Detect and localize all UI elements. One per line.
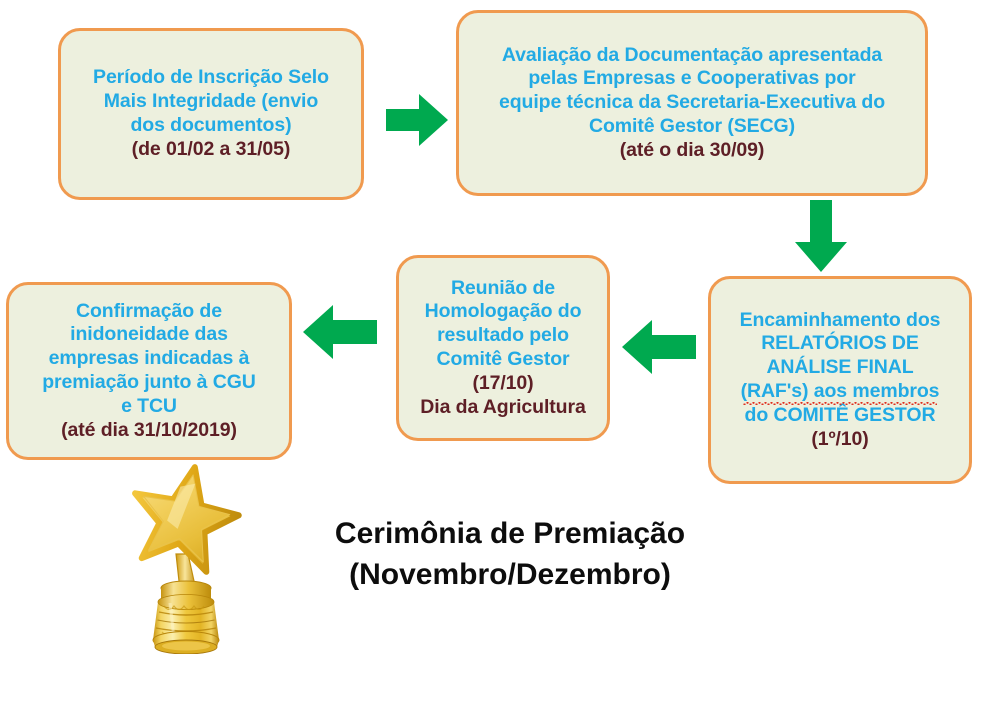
step-5-date: (até dia 31/10/2019) [17, 419, 281, 443]
trophy-star-icon [118, 462, 254, 654]
step-3-line-2: RELATÓRIOS DE [719, 332, 961, 356]
step-3-line-5: do COMITÊ GESTOR [719, 404, 961, 428]
step-4-line-2: Homologação do [407, 300, 599, 324]
flow-step-4[interactable]: Reunião de Homologação do resultado pelo… [396, 255, 610, 441]
ceremony-caption-line-1: Cerimônia de Premiação [320, 514, 700, 555]
step-5-line-3: empresas indicadas à [17, 347, 281, 371]
flow-step-2[interactable]: Avaliação da Documentação apresentada pe… [456, 10, 928, 196]
step-2-line-4: Comitê Gestor (SECG) [467, 115, 917, 139]
step-5-line-1: Confirmação de [17, 300, 281, 324]
arrow-down-icon [793, 200, 849, 272]
step-2-line-3: equipe técnica da Secretaria-Executiva d… [467, 91, 917, 115]
arrow-left-icon [622, 318, 696, 376]
step-4-note: Dia da Agricultura [407, 396, 599, 420]
step-3-date: (1º/10) [719, 428, 961, 452]
step-5-line-5: e TCU [17, 395, 281, 419]
step-5-line-2: inidoneidade das [17, 323, 281, 347]
arrow-left-icon [303, 303, 377, 361]
step-4-date: (17/10) [407, 372, 599, 396]
arrow-right-icon [386, 92, 448, 148]
step-4-line-4: Comitê Gestor [407, 348, 599, 372]
step-4-line-1: Reunião de [407, 277, 599, 301]
flowchart-canvas: Período de Inscrição Selo Mais Integrida… [0, 0, 997, 707]
flow-step-3[interactable]: Encaminhamento dos RELATÓRIOS DE ANÁLISE… [708, 276, 972, 484]
step-1-line-1: Período de Inscrição Selo [69, 66, 353, 90]
flow-step-5[interactable]: Confirmação de inidoneidade das empresas… [6, 282, 292, 460]
misspelled-raf-text: (RAF's) aos membros [741, 380, 940, 404]
step-2-line-2: pelas Empresas e Cooperativas por [467, 67, 917, 91]
ceremony-caption: Cerimônia de Premiação (Novembro/Dezembr… [320, 514, 700, 596]
step-1-line-3: dos documentos) [69, 114, 353, 138]
step-1-date: (de 01/02 a 31/05) [69, 138, 353, 162]
step-3-line-3: ANÁLISE FINAL [719, 356, 961, 380]
step-3-line-1: Encaminhamento dos [719, 309, 961, 333]
step-2-line-1: Avaliação da Documentação apresentada [467, 44, 917, 68]
step-5-line-4: premiação junto à CGU [17, 371, 281, 395]
step-3-line-4: (RAF's) aos membros [719, 380, 961, 404]
step-4-line-3: resultado pelo [407, 324, 599, 348]
flow-step-1[interactable]: Período de Inscrição Selo Mais Integrida… [58, 28, 364, 200]
ceremony-caption-line-2: (Novembro/Dezembro) [320, 555, 700, 596]
step-2-date: (até o dia 30/09) [467, 139, 917, 163]
step-1-line-2: Mais Integridade (envio [69, 90, 353, 114]
